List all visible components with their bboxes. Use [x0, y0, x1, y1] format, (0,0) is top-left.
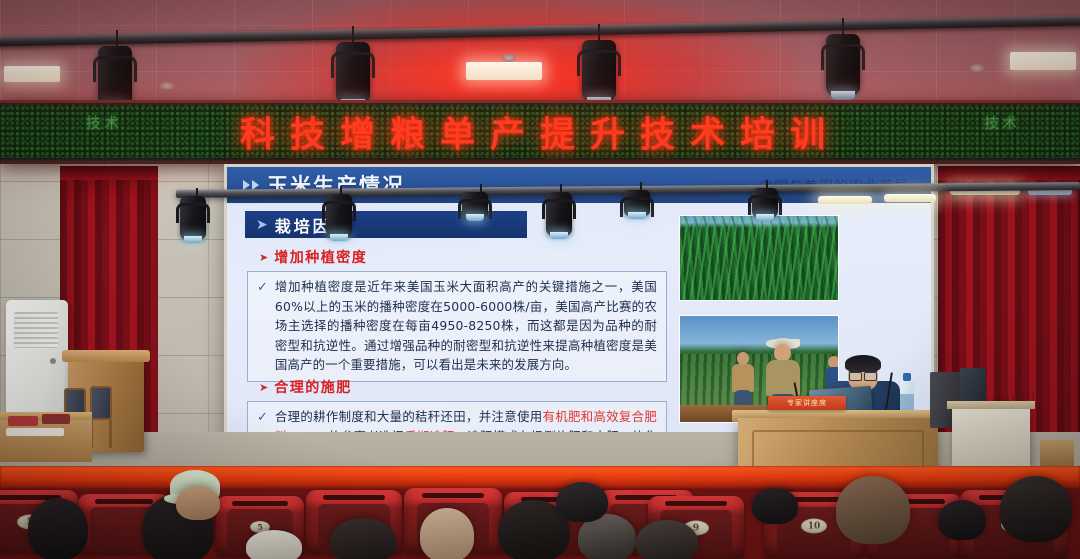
front-stage-light	[624, 190, 650, 216]
slide-subheading: ➤ 合理的施肥	[247, 377, 667, 397]
audience-head	[330, 518, 396, 559]
front-stage-light	[546, 192, 572, 236]
audience-head	[1000, 476, 1072, 542]
ceiling-panel-light	[466, 62, 542, 80]
audience-head	[836, 476, 910, 544]
arrow-right-icon: ➤	[259, 251, 268, 264]
slide-subheading: ➤ 增加种植密度	[247, 247, 667, 267]
farmer-figure	[732, 352, 754, 404]
stage-tube-light	[818, 196, 872, 204]
document-sheet	[6, 428, 64, 436]
led-banner-text: 科技增粮单产提升技术培训	[0, 107, 1080, 158]
front-stage-light	[180, 196, 206, 240]
slide-photo-corn-field	[679, 215, 839, 301]
check-icon: ✓	[257, 277, 268, 375]
chevron-right-icon: ➤	[256, 216, 268, 233]
stage-light-fixture	[826, 34, 860, 96]
smoke-detector-icon	[502, 54, 516, 62]
audience-head	[246, 530, 302, 559]
smoke-detector-icon	[160, 82, 174, 90]
av-control-desk	[952, 408, 1030, 466]
curtain-valance	[60, 166, 158, 180]
led-banner: 技术 技术 科技增粮单产提升技术培训	[0, 100, 1080, 164]
slide-subheading-label: 合理的施肥	[274, 377, 352, 397]
stage-light-fixture	[582, 40, 616, 102]
slide-paragraph: 增加种植密度是近年来美国玉米大面积高产的关键措施之一，美国60%以上的玉米的播种…	[275, 277, 657, 375]
curtain-valance	[938, 166, 1080, 180]
stage-light-fixture	[336, 42, 370, 104]
slide-subheading-label: 增加种植密度	[274, 247, 367, 267]
audience-head	[28, 498, 88, 559]
audience-head	[938, 500, 986, 540]
stage-tube-light	[884, 194, 936, 202]
seat-row-highlight	[0, 466, 1080, 488]
audience-head	[752, 488, 798, 524]
podium-nameplate: 专家讲座席	[768, 396, 846, 410]
stage-light-fixture	[98, 46, 132, 108]
front-stage-light	[326, 194, 352, 238]
audience-head	[420, 508, 474, 559]
document-folder	[42, 414, 70, 424]
smoke-detector-icon	[970, 64, 984, 72]
audience-head	[176, 486, 220, 520]
wooden-stool	[1040, 440, 1074, 468]
slide-textbox: ✓ 增加种植密度是近年来美国玉米大面积高产的关键措施之一，美国60%以上的玉米的…	[247, 271, 667, 382]
ceiling-panel-light	[1010, 52, 1076, 70]
audience-head	[636, 520, 698, 559]
slide-block-1: ➤ 增加种植密度 ✓ 增加种植密度是近年来美国玉米大面积高产的关键措施之一，美国…	[247, 247, 667, 382]
ac-indicator-icon	[50, 358, 56, 364]
arrow-right-icon: ➤	[259, 381, 268, 394]
audience-head	[556, 482, 608, 522]
document-folder	[8, 416, 38, 426]
podium-nameplate-text: 专家讲座席	[768, 396, 846, 410]
front-stage-light	[462, 192, 488, 218]
seat-number: 10	[801, 519, 827, 534]
ceiling-panel-light	[4, 66, 60, 82]
front-stage-light	[752, 188, 778, 218]
glasses-icon	[849, 370, 877, 377]
auditorium-photo: 技术 技术 科技增粮单产提升技术培训 玉米生产情况 中国与美国的农业差异 ➤ 栽…	[0, 0, 1080, 559]
ac-vent	[14, 312, 58, 348]
